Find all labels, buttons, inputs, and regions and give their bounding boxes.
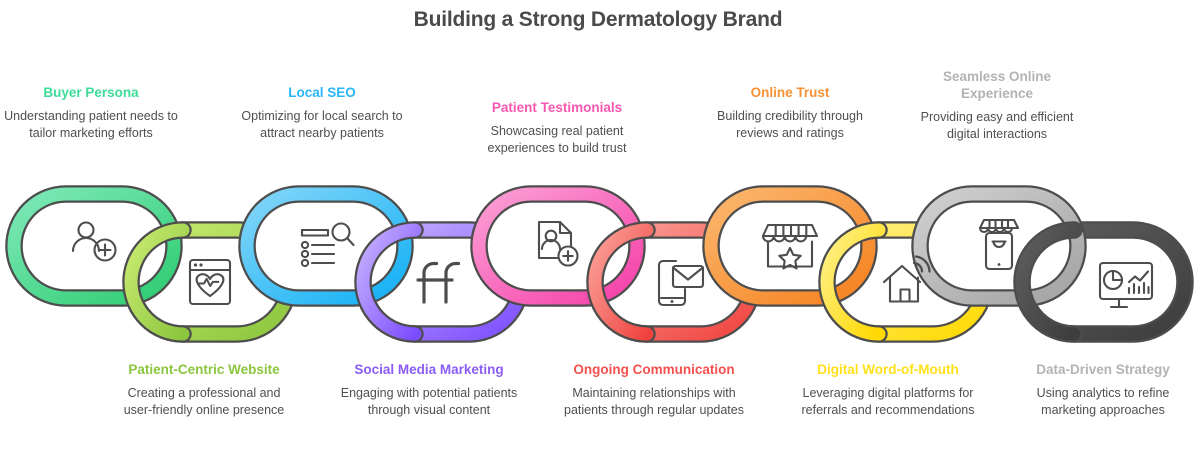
chain-diagram	[0, 182, 1196, 347]
caption-title: Social Media Marketing	[340, 361, 518, 378]
caption-title: Buyer Persona	[2, 84, 180, 101]
caption-seamless-online-experience: Seamless Online Experience Providing eas…	[908, 68, 1086, 142]
caption-description: Creating a professional and user-friendl…	[115, 385, 293, 418]
caption-title: Local SEO	[232, 84, 412, 101]
caption-description: Providing easy and efficient digital int…	[908, 109, 1086, 142]
caption-description: Understanding patient needs to tailor ma…	[2, 108, 180, 141]
caption-title: Digital Word-of-Mouth	[800, 361, 976, 378]
caption-data-driven-strategy: Data-Driven Strategy Using analytics to …	[1014, 361, 1192, 418]
caption-description: Engaging with potential patients through…	[340, 385, 518, 418]
page-title: Building a Strong Dermatology Brand	[0, 6, 1196, 34]
caption-description: Showcasing real patient experiences to b…	[457, 123, 657, 156]
caption-title: Patient-Centric Website	[115, 361, 293, 378]
caption-title: Online Trust	[700, 84, 880, 101]
caption-description: Leveraging digital platforms for referra…	[800, 385, 976, 418]
caption-title: Seamless Online Experience	[908, 68, 1086, 102]
caption-title: Patient Testimonials	[457, 99, 657, 116]
caption-patient-testimonials: Patient Testimonials Showcasing real pat…	[457, 99, 657, 156]
caption-description: Optimizing for local search to attract n…	[232, 108, 412, 141]
caption-online-trust: Online Trust Building credibility throug…	[700, 84, 880, 141]
caption-title: Ongoing Communication	[563, 361, 745, 378]
caption-ongoing-communication: Ongoing Communication Maintaining relati…	[563, 361, 745, 418]
caption-description: Using analytics to refine marketing appr…	[1014, 385, 1192, 418]
caption-social-media-marketing: Social Media Marketing Engaging with pot…	[340, 361, 518, 418]
caption-description: Building credibility through reviews and…	[700, 108, 880, 141]
caption-buyer-persona: Buyer Persona Understanding patient need…	[2, 84, 180, 141]
caption-patient-centric-website: Patient-Centric Website Creating a profe…	[115, 361, 293, 418]
caption-title: Data-Driven Strategy	[1014, 361, 1192, 378]
caption-description: Maintaining relationships with patients …	[563, 385, 745, 418]
caption-local-seo: Local SEO Optimizing for local search to…	[232, 84, 412, 141]
caption-digital-word-of-mouth: Digital Word-of-Mouth Leveraging digital…	[800, 361, 976, 418]
